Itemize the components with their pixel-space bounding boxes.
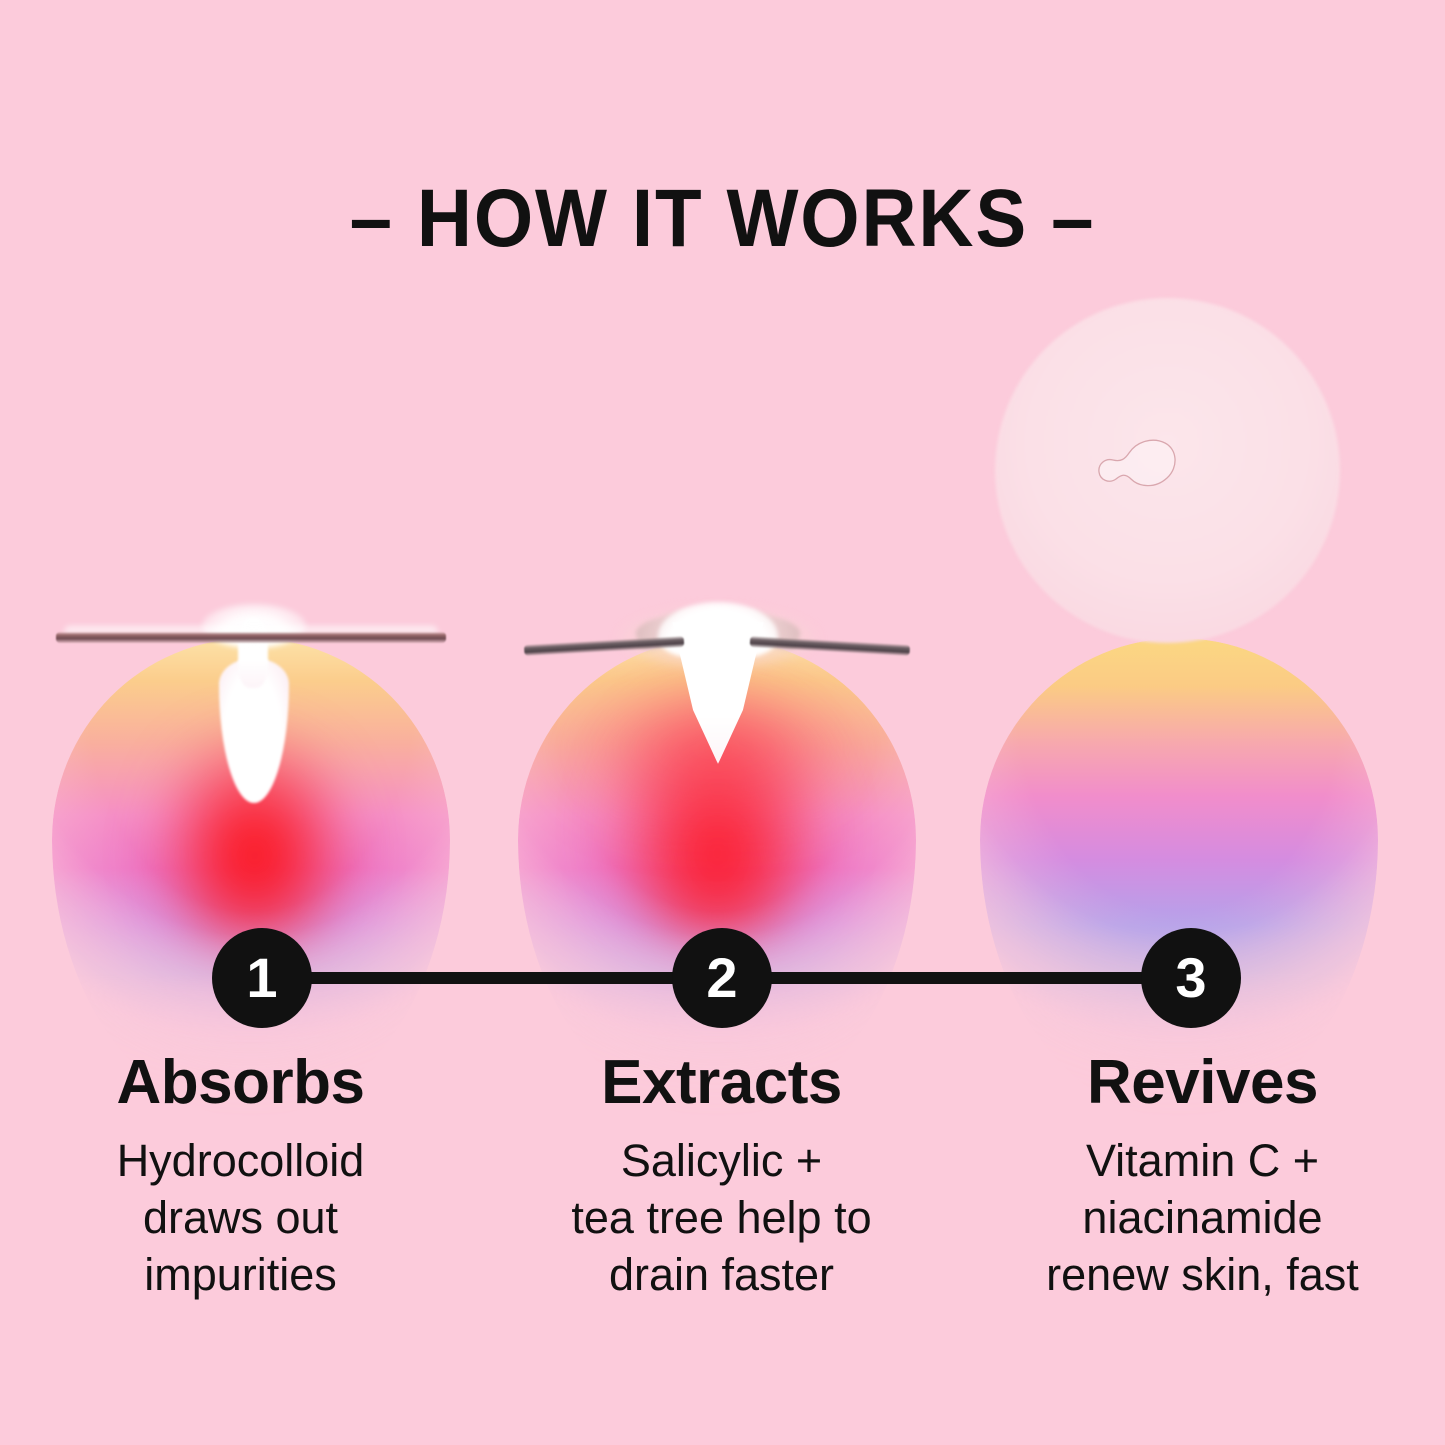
hydrocolloid-patch-icon [56, 632, 446, 643]
illustration-step-2 [518, 600, 916, 900]
step-2-title: Extracts [481, 1046, 962, 1120]
timeline: 1 2 3 [0, 925, 1445, 1030]
step-1-description: Hydrocolloid draws out impurities [0, 1132, 481, 1303]
step-1: Absorbs Hydrocolloid draws out impuritie… [0, 1046, 481, 1303]
how-it-works-infographic: – HOW IT WORKS – [0, 0, 1445, 1445]
step-1-title: Absorbs [0, 1046, 481, 1120]
timeline-node-2[interactable]: 2 [672, 928, 772, 1028]
timeline-node-3[interactable]: 3 [1141, 928, 1241, 1028]
illustration-stage [0, 0, 1445, 920]
step-3-title: Revives [962, 1046, 1443, 1120]
illustration-step-3 [980, 600, 1378, 900]
timeline-node-1[interactable]: 1 [212, 928, 312, 1028]
step-2: Extracts Salicylic + tea tree help to dr… [481, 1046, 962, 1303]
steps-list: Absorbs Hydrocolloid draws out impuritie… [0, 1046, 1445, 1303]
illustration-step-1 [52, 600, 450, 900]
step-2-description: Salicylic + tea tree help to drain faste… [481, 1132, 962, 1303]
step-3-description: Vitamin C + niacinamide renew skin, fast [962, 1132, 1443, 1303]
extracted-impurity-outline-icon [1095, 437, 1190, 492]
step-3: Revives Vitamin C + niacinamide renew sk… [962, 1046, 1443, 1303]
